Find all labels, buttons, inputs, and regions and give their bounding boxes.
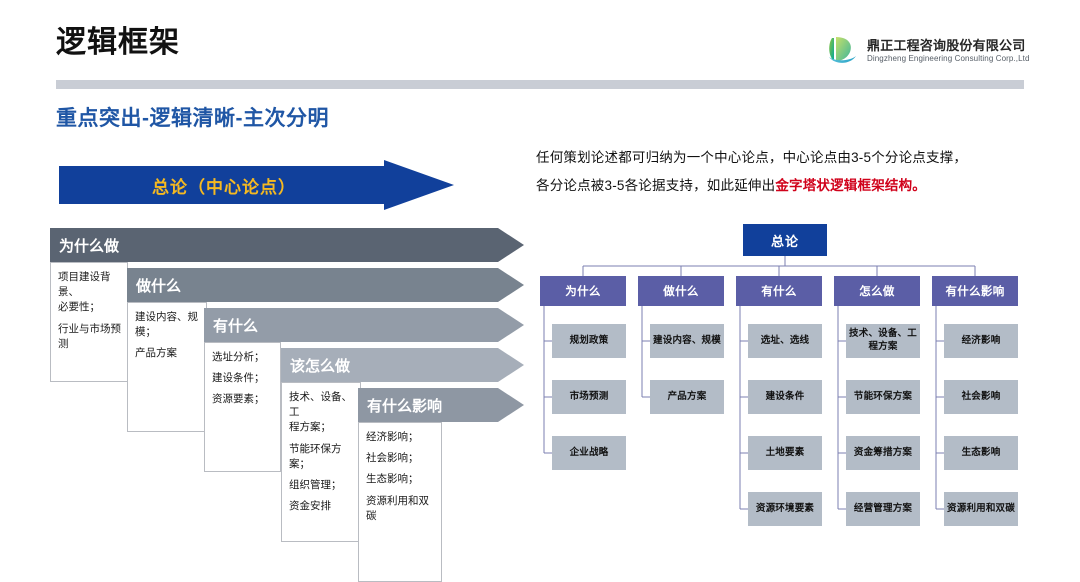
banner-label: 总论（中心论点） (152, 173, 296, 198)
stair-header-arrow-icon (498, 348, 524, 382)
stair-header-4[interactable]: 该怎么做 (281, 348, 520, 382)
stair-header-bar (127, 268, 498, 302)
stair-header-arrow-icon (498, 268, 524, 302)
stair-header-3[interactable]: 有什么 (204, 308, 520, 342)
central-thesis-arrow-banner: 总论（中心论点） (59, 160, 454, 210)
stair-body-1: 项目建设背景、 必要性；行业与市场预测 (50, 262, 128, 382)
stair-header-label: 有什么影响 (358, 395, 442, 416)
paragraph-line-1: 任何策划论述都可归纳为一个中心论点，中心论点由3-5个分论点支撑， (536, 150, 967, 165)
explanatory-paragraph: 任何策划论述都可归纳为一个中心论点，中心论点由3-5个分论点支撑， 各分论点被3… (536, 144, 1028, 199)
tree-leaf-node[interactable]: 资源利用和双碳 (944, 492, 1018, 526)
tree-leaf-node[interactable]: 社会影响 (944, 380, 1018, 414)
page-title: 逻辑框架 (56, 26, 180, 59)
tree-leaf-node[interactable]: 选址、选线 (748, 324, 822, 358)
tree-leaf-node[interactable]: 节能环保方案 (846, 380, 920, 414)
stair-header-label: 为什么做 (50, 235, 119, 256)
tree-branch-node-1[interactable]: 为什么 (540, 276, 626, 306)
stair-header-arrow-icon (498, 388, 524, 422)
stair-body-line: 经济影响； (366, 430, 435, 445)
tree-leaf-node[interactable]: 生态影响 (944, 436, 1018, 470)
stair-body-line: 社会影响； (366, 451, 435, 466)
stair-body-4: 技术、设备、工 程方案；节能环保方案；组织管理；资金安排 (281, 382, 361, 542)
stair-body-line: 项目建设背景、 必要性； (58, 270, 121, 316)
tree-leaf-node[interactable]: 资源环境要素 (748, 492, 822, 526)
stair-header-label: 有什么 (204, 315, 258, 336)
tree-leaf-node[interactable]: 建设内容、规模 (650, 324, 724, 358)
tree-branch-node-5[interactable]: 有什么影响 (932, 276, 1018, 306)
tree-branch-node-2[interactable]: 做什么 (638, 276, 724, 306)
stair-header-arrow-icon (498, 228, 524, 262)
tree-leaf-node[interactable]: 经营管理方案 (846, 492, 920, 526)
banner-body: 总论（中心论点） (59, 166, 389, 204)
logo-text-block: 鼎正工程咨询股份有限公司 Dingzheng Engineering Consu… (867, 39, 1030, 63)
tree-branch-node-4[interactable]: 怎么做 (834, 276, 920, 306)
tree-leaf-node[interactable]: 资金筹措方案 (846, 436, 920, 470)
dingzheng-leaf-logo-icon (826, 34, 860, 68)
stair-body-line: 建设条件； (212, 371, 274, 386)
stair-body-line: 行业与市场预测 (58, 322, 121, 352)
tree-leaf-node[interactable]: 建设条件 (748, 380, 822, 414)
tree-leaf-node[interactable]: 产品方案 (650, 380, 724, 414)
stair-body-line: 技术、设备、工 程方案； (289, 390, 354, 436)
stair-body-line: 组织管理； (289, 478, 354, 493)
stair-header-label: 做什么 (127, 275, 181, 296)
stair-body-line: 资源利用和双 碳 (366, 494, 435, 524)
stair-header-2[interactable]: 做什么 (127, 268, 520, 302)
stair-body-line: 选址分析； (212, 350, 274, 365)
stair-body-3: 选址分析；建设条件；资源要素； (204, 342, 281, 472)
tree-leaf-node[interactable]: 技术、设备、工 程方案 (846, 324, 920, 358)
tree-leaf-node[interactable]: 土地要素 (748, 436, 822, 470)
tree-root-node[interactable]: 总论 (743, 224, 827, 256)
stair-header-5[interactable]: 有什么影响 (358, 388, 520, 422)
slide-canvas: 逻辑框架 重点突出-逻辑清晰-主次分明 (0, 0, 1080, 560)
logo-company-en: Dingzheng Engineering Consulting Corp.,L… (867, 54, 1030, 63)
stair-header-1[interactable]: 为什么做 (50, 228, 520, 262)
stair-body-line: 产品方案 (135, 346, 200, 361)
title-divider (56, 80, 1024, 89)
stair-body-5: 经济影响；社会影响；生态影响；资源利用和双 碳 (358, 422, 442, 582)
pyramid-tree-diagram: 总论为什么规划政策市场预测企业战略做什么建设内容、规模产品方案有什么选址、选线建… (536, 224, 1036, 548)
stair-body-line: 建设内容、规模； (135, 310, 200, 340)
logo-company-cn: 鼎正工程咨询股份有限公司 (867, 39, 1030, 54)
stair-header-arrow-icon (498, 308, 524, 342)
banner-arrow-head-icon (384, 160, 454, 210)
tree-leaf-node[interactable]: 经济影响 (944, 324, 1018, 358)
staircase-diagram: 为什么做项目建设背景、 必要性；行业与市场预测做什么建设内容、规模；产品方案有什… (50, 228, 530, 518)
stair-body-line: 资源要素； (212, 392, 274, 407)
tree-leaf-node[interactable]: 规划政策 (552, 324, 626, 358)
tree-leaf-node[interactable]: 市场预测 (552, 380, 626, 414)
stair-body-line: 节能环保方案； (289, 442, 354, 472)
stair-body-line: 资金安排 (289, 499, 354, 514)
stair-body-line: 生态影响； (366, 472, 435, 487)
tree-branch-node-3[interactable]: 有什么 (736, 276, 822, 306)
stair-header-label: 该怎么做 (281, 355, 350, 376)
page-subtitle: 重点突出-逻辑清晰-主次分明 (56, 102, 329, 132)
stair-body-2: 建设内容、规模；产品方案 (127, 302, 207, 432)
company-logo: 鼎正工程咨询股份有限公司 Dingzheng Engineering Consu… (826, 34, 1030, 68)
paragraph-line-2-prefix: 各分论点被3-5各论据支持，如此延伸出 (536, 178, 775, 193)
paragraph-highlight: 金字塔状逻辑框架结构。 (775, 178, 926, 193)
tree-leaf-node[interactable]: 企业战略 (552, 436, 626, 470)
